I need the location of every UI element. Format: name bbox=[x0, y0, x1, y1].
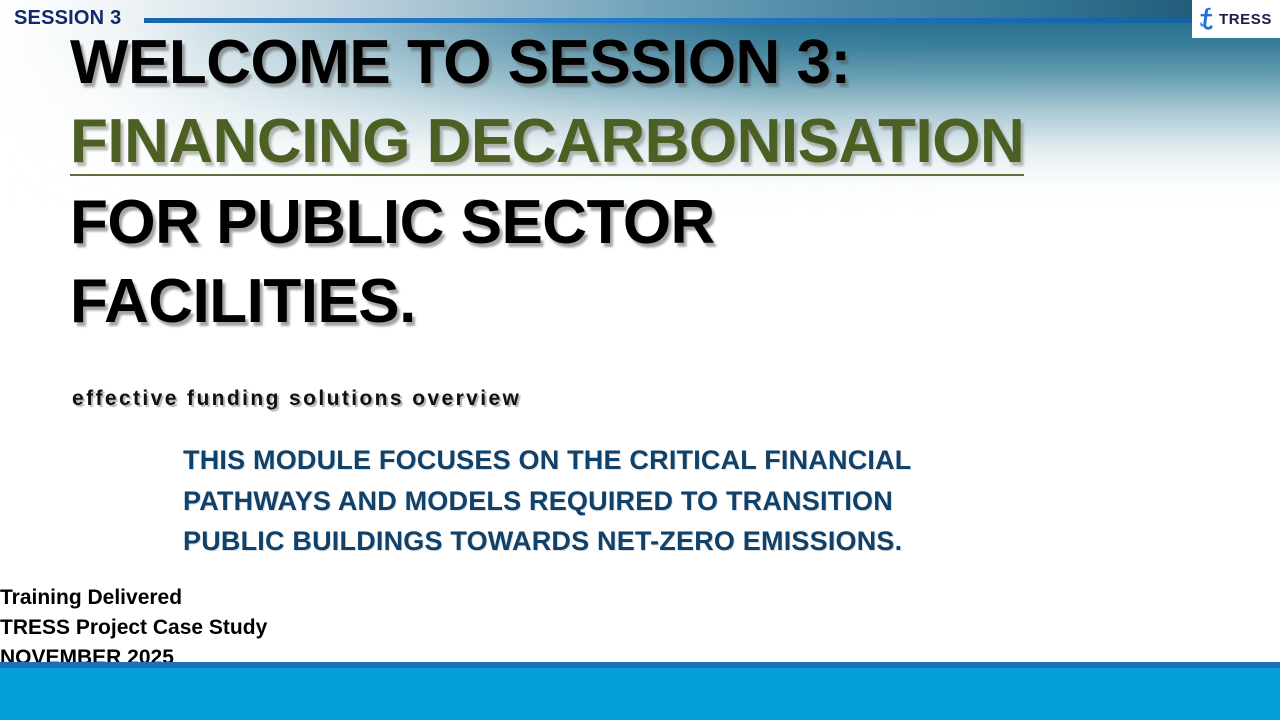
statement-line-3: PUBLIC BUILDINGS TOWARDS NET-ZERO EMISSI… bbox=[183, 521, 1243, 562]
header-rule-line bbox=[144, 18, 1280, 23]
statement-line-1: THIS MODULE FOCUSES ON THE CRITICAL FINA… bbox=[183, 440, 1243, 481]
slide-credits: Training Delivered TRESS Project Case St… bbox=[0, 583, 267, 673]
tress-t-mark-icon bbox=[1196, 7, 1216, 31]
session-label: SESSION 3 bbox=[14, 7, 121, 30]
tress-logo[interactable]: TRESS bbox=[1192, 0, 1280, 38]
title-line-3: FOR PUBLIC SECTOR bbox=[70, 194, 1250, 253]
statement-line-2: PATHWAYS AND MODELS REQUIRED TO TRANSITI… bbox=[183, 481, 1243, 522]
title-line-1: WELCOME TO SESSION 3: bbox=[70, 34, 1250, 93]
slide-statement: THIS MODULE FOCUSES ON THE CRITICAL FINA… bbox=[183, 440, 1243, 562]
slide-title: WELCOME TO SESSION 3: FINANCING DECARBON… bbox=[70, 34, 1250, 332]
title-line-4: FACILITIES. bbox=[70, 273, 1250, 332]
credit-line-1: Training Delivered bbox=[0, 583, 267, 613]
title-slide: SESSION 3 TRESS WELCOME TO SESSION 3: FI… bbox=[0, 0, 1280, 720]
tress-wordmark: TRESS bbox=[1219, 12, 1272, 27]
footer-bar bbox=[0, 668, 1280, 720]
credit-line-2: TRESS Project Case Study bbox=[0, 613, 267, 643]
title-line-2-highlight: FINANCING DECARBONISATION bbox=[70, 113, 1024, 176]
slide-tagline: effective funding solutions overview bbox=[72, 387, 521, 411]
